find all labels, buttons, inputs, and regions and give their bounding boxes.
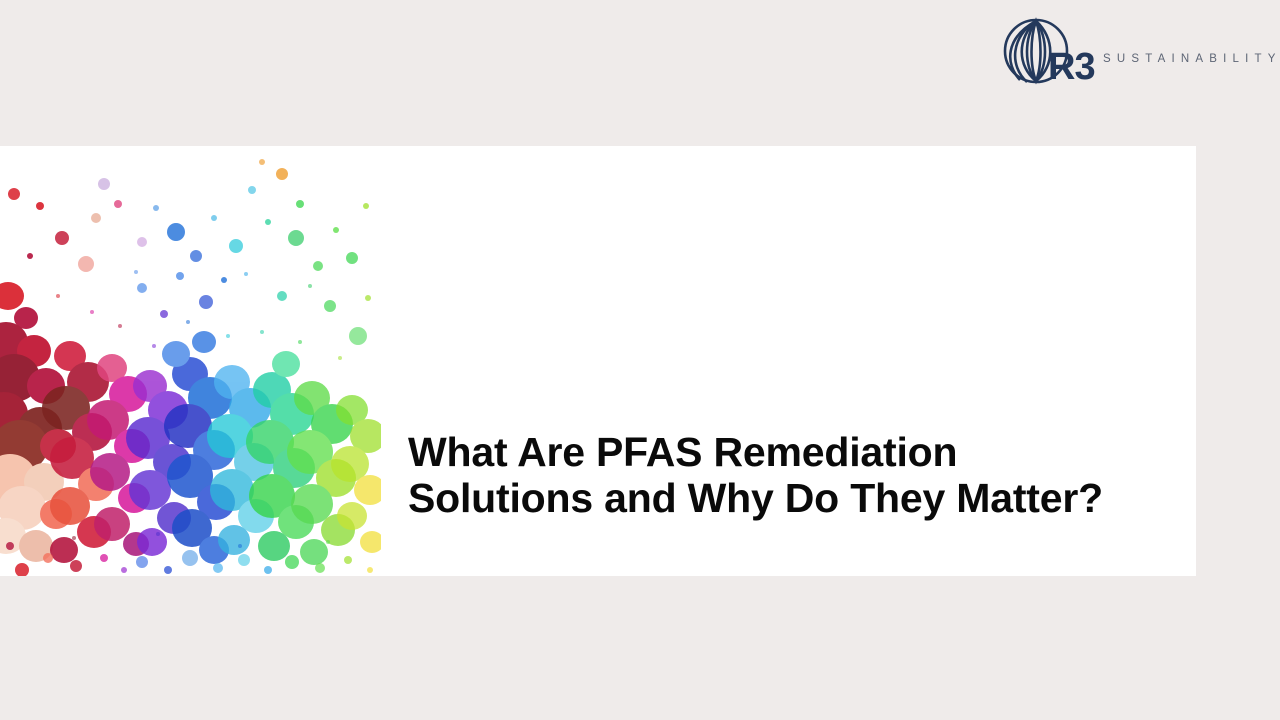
r3-onion-globe-icon: R3 bbox=[1003, 16, 1095, 86]
brand-wordmark: SUSTAINABILITY bbox=[1103, 53, 1280, 65]
brand-logo[interactable]: R3 SUSTAINABILITY bbox=[1003, 16, 1280, 86]
r3-lettermark-text: R3 bbox=[1048, 46, 1095, 86]
page-title: What Are PFAS Remediation Solutions and … bbox=[408, 429, 1108, 521]
hero-artwork bbox=[0, 146, 381, 576]
r3-lettermark: R3 bbox=[1048, 46, 1095, 86]
rainbow-paint-splatter-artwork bbox=[0, 146, 381, 576]
slide-canvas: R3 SUSTAINABILITY bbox=[0, 0, 1280, 720]
content-card: What Are PFAS Remediation Solutions and … bbox=[0, 146, 1196, 576]
